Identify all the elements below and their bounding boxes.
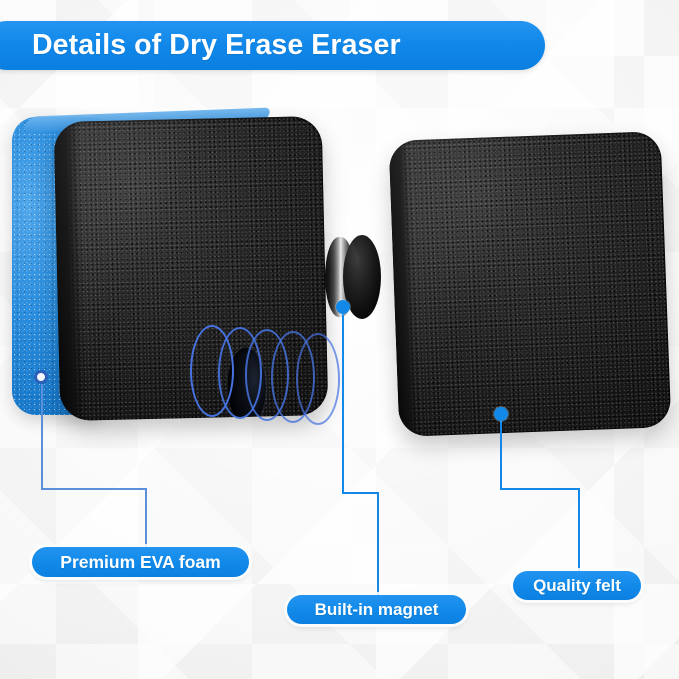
felt-sheen	[389, 131, 672, 437]
leader-line-magnet-horizontal	[342, 492, 379, 494]
page-title: Details of Dry Erase Eraser	[32, 29, 401, 62]
left-eraser-assembly	[12, 103, 328, 428]
callout-label-built-in-magnet: Built-in magnet	[287, 595, 466, 624]
right-eraser-assembly	[394, 136, 666, 432]
right-eraser-felt-face	[389, 131, 672, 437]
infographic-canvas: Details of Dry Erase Eraser Premium EVA …	[0, 0, 679, 679]
leader-line-felt-horizontal	[500, 488, 580, 490]
leader-line-eva-vertical-1	[41, 384, 43, 490]
leader-line-felt-vertical-1	[500, 420, 502, 490]
callout-marker-quality-felt	[494, 407, 508, 421]
leader-line-magnet-vertical-1	[342, 312, 344, 494]
felt-sheen	[54, 116, 329, 421]
leader-line-magnet-vertical-2	[377, 492, 379, 596]
callout-marker-built-in-magnet	[336, 300, 350, 314]
callout-marker-eva-foam	[34, 370, 48, 384]
callout-label-quality-felt: Quality felt	[513, 571, 641, 600]
magnet-cylinder	[325, 235, 381, 319]
leader-line-eva-horizontal	[41, 488, 147, 490]
left-eraser-felt-face	[54, 116, 329, 421]
leader-line-felt-vertical-2	[578, 488, 580, 573]
title-banner: Details of Dry Erase Eraser	[0, 21, 545, 70]
leader-line-eva-vertical-2	[145, 488, 147, 548]
callout-label-premium-eva-foam: Premium EVA foam	[32, 547, 249, 577]
